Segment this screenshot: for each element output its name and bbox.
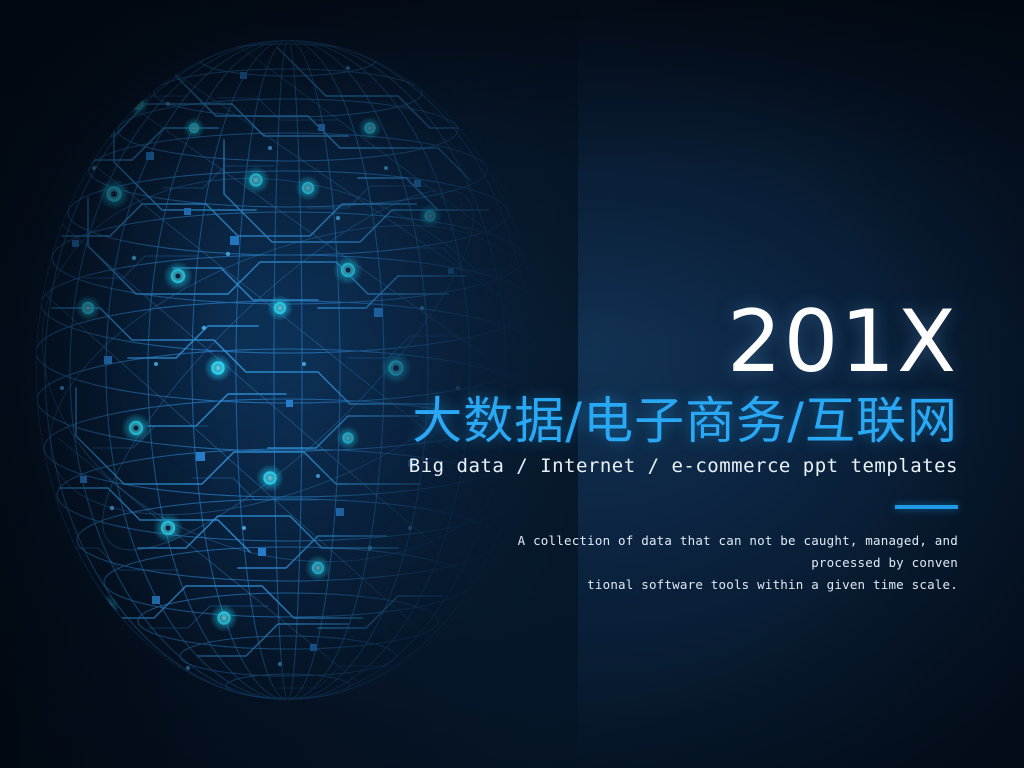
chinese-headline: 大数据/电子商务/互联网 xyxy=(318,394,958,448)
presentation-slide: 201X 大数据/电子商务/互联网 Big data / Internet / … xyxy=(0,0,1024,768)
accent-divider xyxy=(895,505,958,509)
year-title: 201X xyxy=(318,300,958,384)
description-paragraph: A collection of data that can not be cau… xyxy=(496,530,958,596)
english-subtitle: Big data / Internet / e-commerce ppt tem… xyxy=(318,454,958,479)
title-text-block: 201X 大数据/电子商务/互联网 Big data / Internet / … xyxy=(318,300,958,596)
